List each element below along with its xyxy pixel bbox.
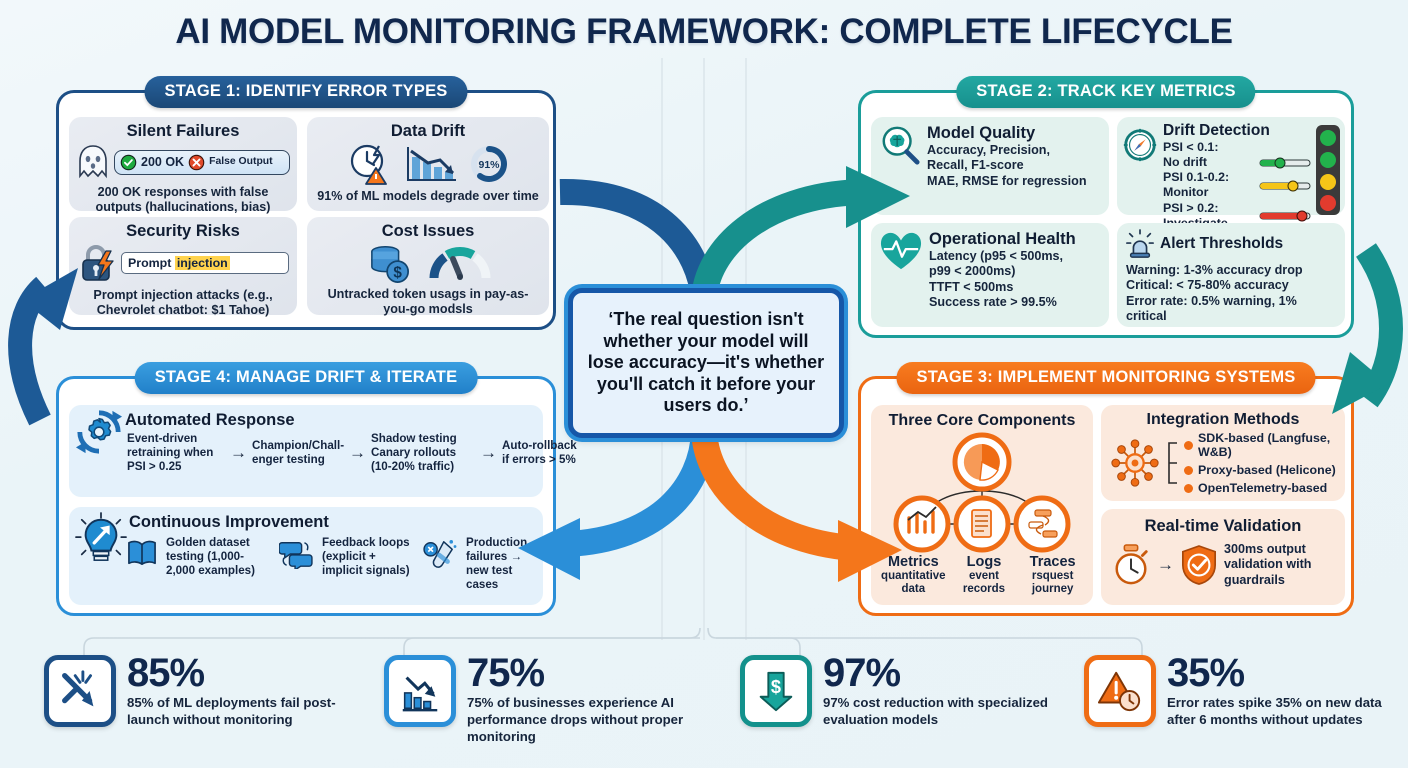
card-title: Automated Response	[69, 405, 543, 430]
shield-check-icon	[1180, 544, 1218, 586]
svg-text:$: $	[393, 264, 402, 281]
bullet-dot	[1184, 466, 1193, 475]
slider-green[interactable]	[1259, 156, 1311, 169]
components-diagram	[877, 432, 1087, 558]
card-line: Error rate: 0.5% warning, 1% critical	[1126, 294, 1336, 325]
integration-title: Integration Methods	[1101, 411, 1345, 429]
card-line: Success rate > 99.5%	[929, 295, 1076, 310]
stage-1-label: STAGE 1: IDENTIFY ERROR TYPES	[145, 76, 468, 108]
card-line: Accuracy, Precision,	[927, 143, 1087, 158]
declining-bars-icon	[404, 143, 460, 185]
card-drift-detection: Drift Detection PSI < 0.1: No drift PSI …	[1117, 117, 1345, 215]
card-operational-health: Operational Health Latency (p95 < 500ms,…	[871, 223, 1109, 327]
gauge-icon	[429, 243, 491, 283]
gauge-value: 91%	[478, 159, 500, 171]
arrow-icon: →	[349, 443, 366, 463]
clock-alert-icon	[346, 142, 396, 186]
bullet-dot	[1184, 441, 1193, 450]
card-three-core-components: Three Core Components	[871, 405, 1093, 605]
card-text: Prompt injection attacks (e.g., Chevrole…	[69, 283, 297, 319]
progress-ring-icon: 91%	[468, 143, 510, 185]
validation-text: 300ms output validation with guardrails	[1224, 542, 1335, 588]
arrow-icon: →	[1157, 555, 1174, 575]
stat-percent: 97%	[823, 655, 1070, 692]
card-integration-methods: Integration Methods	[1101, 405, 1345, 501]
error-circle-icon	[188, 154, 205, 171]
card-line: PSI < 0.1:	[1163, 140, 1311, 155]
card-security-risks: Security Risks Prompt injection Prompt i…	[69, 217, 297, 315]
card-line: p99 < 2000ms)	[929, 264, 1076, 279]
item-text: Feedback loops (explicit + implicit sign…	[322, 536, 414, 578]
card-line: Critical: < 75-80% accuracy	[1126, 278, 1336, 293]
compass-icon	[1121, 126, 1159, 164]
card-line: Warning: 1-3% accuracy drop	[1126, 263, 1336, 278]
stat-card: $ 97% 97% cost reduction with specialize…	[740, 655, 1070, 729]
component-sub: quantitative data	[880, 570, 946, 596]
card-data-drift: Data Drift	[307, 117, 549, 211]
card-line: Recall, F1-score	[927, 158, 1087, 173]
stat-description: Error rates spike 35% on new data after …	[1167, 695, 1404, 729]
component-name: Logs	[953, 554, 1015, 570]
warning-clock-icon	[1097, 668, 1143, 714]
stat-card: 35% Error rates spike 35% on new data af…	[1084, 655, 1404, 729]
card-line: TTFT < 500ms	[929, 280, 1076, 295]
brain-magnifier-icon	[879, 124, 921, 166]
stat-icon-wrapper	[1084, 655, 1156, 727]
item-text: Golden dataset testing (1,000-2,000 exam…	[166, 536, 270, 578]
stat-description: 75% of businesses experience AI performa…	[467, 695, 714, 746]
arrow-icon: →	[480, 443, 497, 463]
slider-yellow[interactable]	[1259, 179, 1311, 192]
card-title: Model Quality	[927, 124, 1087, 143]
chip-highlight: injection	[175, 256, 230, 270]
card-title: Silent Failures	[69, 122, 297, 141]
page-title: AI MODEL MONITORING FRAMEWORK: COMPLETE …	[0, 12, 1408, 52]
stat-percent: 85%	[127, 655, 374, 692]
bullet-dot	[1184, 484, 1193, 493]
card-automated-response: Automated Response Event-driven retraini…	[69, 405, 543, 497]
arrow-icon: →	[230, 443, 247, 463]
network-hub-icon	[1107, 436, 1163, 490]
stat-description: 85% of ML deployments fail post-launch w…	[127, 695, 374, 729]
stat-card: 85% 85% of ML deployments fail post-laun…	[44, 655, 374, 729]
card-title: Security Risks	[69, 222, 297, 241]
chip-prefix: Prompt	[128, 256, 175, 270]
validation-title: Real-time Validation	[1101, 517, 1345, 536]
lock-bolt-icon	[77, 243, 117, 283]
siren-icon	[1125, 229, 1155, 259]
stat-percent: 35%	[1167, 655, 1404, 692]
dollar-down-arrow-icon: $	[753, 668, 799, 714]
stage-4-label: STAGE 4: MANAGE DRIFT & ITERATE	[135, 362, 478, 394]
test-tube-icon	[423, 539, 457, 569]
card-title: Continuous Improvement	[69, 507, 543, 532]
card-silent-failures: Silent Failures 200 OK	[69, 117, 297, 211]
chat-bubbles-icon	[279, 539, 313, 569]
card-cost-issues: Cost Issues $ Untracked token usags	[307, 217, 549, 315]
card-continuous-improvement: Continuous Improvement Golden dataset te…	[69, 507, 543, 605]
card-alert-thresholds: Alert Thresholds Warning: 1-3% accuracy …	[1117, 223, 1345, 327]
card-title: Data Drift	[307, 122, 549, 141]
stat-icon-wrapper	[44, 655, 116, 727]
gear-refresh-icon	[75, 408, 123, 456]
stat-icon-wrapper	[384, 655, 456, 727]
stopwatch-icon	[1111, 544, 1151, 586]
step-text: Auto-rollback if errors > 5%	[502, 439, 582, 467]
check-circle-icon	[120, 154, 137, 171]
integration-item: SDK-based (Langfuse, W&B)	[1198, 431, 1339, 459]
card-title: Alert Thresholds	[1160, 235, 1283, 253]
bracket-icon	[1165, 435, 1181, 491]
card-line: No drift	[1163, 155, 1255, 170]
book-icon	[127, 539, 157, 567]
card-line: PSI 0.1-0.2: Monitor	[1163, 170, 1255, 200]
step-text: Event-driven retraining when PSI > 0.25	[127, 432, 225, 474]
card-title: Operational Health	[929, 230, 1076, 249]
card-realtime-validation: Real-time Validation → 300ms output vali…	[1101, 509, 1345, 605]
stat-percent: 75%	[467, 655, 714, 692]
card-text: 91% of ML models degrade over time	[307, 186, 549, 204]
card-text: Untracked token usags in pay-as-you-go m…	[307, 284, 549, 318]
declining-bar-chart-icon	[397, 668, 443, 714]
stage-3-label: STAGE 3: IMPLEMENT MONITORING SYSTEMS	[897, 362, 1316, 394]
component-sub: event records	[953, 570, 1015, 596]
stat-description: 97% cost reduction with specialized eval…	[823, 695, 1070, 729]
components-title: Three Core Components	[871, 412, 1093, 430]
stage-2-panel: STAGE 2: TRACK KEY METRICS Model Quality…	[858, 90, 1354, 338]
svg-text:$: $	[771, 677, 781, 697]
coins-dollar-icon: $	[365, 242, 415, 284]
stage-2-label: STAGE 2: TRACK KEY METRICS	[956, 76, 1255, 108]
status-badge-bad: False Output	[209, 157, 273, 168]
stage-1-panel: STAGE 1: IDENTIFY ERROR TYPES Silent Fai…	[56, 90, 556, 330]
stat-icon-wrapper: $	[740, 655, 812, 727]
center-quote: ‘The real question isn't whether your mo…	[568, 288, 844, 438]
traffic-light-icon	[1315, 124, 1341, 216]
card-text: 200 OK responses with false outputs (hal…	[69, 181, 297, 216]
component-name: Traces	[1022, 554, 1084, 570]
infographic-canvas: AI MODEL MONITORING FRAMEWORK: COMPLETE …	[0, 0, 1408, 768]
card-title: Drift Detection	[1163, 122, 1311, 140]
item-text: Production failures → new test cases	[466, 536, 544, 592]
stage-3-panel: STAGE 3: IMPLEMENT MONITORING SYSTEMS Th…	[858, 376, 1354, 616]
step-text: Champion/Chall-enger testing	[252, 439, 344, 467]
stat-card: 75% 75% of businesses experience AI perf…	[384, 655, 714, 745]
lightbulb-arrow-icon	[75, 512, 127, 566]
integration-item: OpenTelemetry-based	[1198, 481, 1327, 495]
integration-item: Proxy-based (Helicone)	[1198, 463, 1336, 477]
component-name: Metrics	[880, 554, 946, 570]
card-model-quality: Model Quality Accuracy, Precision, Recal…	[871, 117, 1109, 215]
slider-red[interactable]	[1259, 209, 1311, 222]
heart-pulse-icon	[879, 230, 923, 272]
step-text: Shadow testing Canary rollouts (10-20% t…	[371, 432, 475, 474]
card-title: Cost Issues	[307, 222, 549, 241]
card-line: MAE, RMSE for regression	[927, 174, 1087, 189]
component-sub: rsquest journey	[1022, 570, 1084, 596]
scatter-down-arrow-icon	[57, 668, 103, 714]
card-line: Latency (p95 < 500ms,	[929, 249, 1076, 264]
ghost-icon	[76, 143, 110, 181]
status-badge-ok: 200 OK	[141, 155, 184, 169]
stage-4-panel: STAGE 4: MANAGE DRIFT & ITERATE Automate…	[56, 376, 556, 616]
